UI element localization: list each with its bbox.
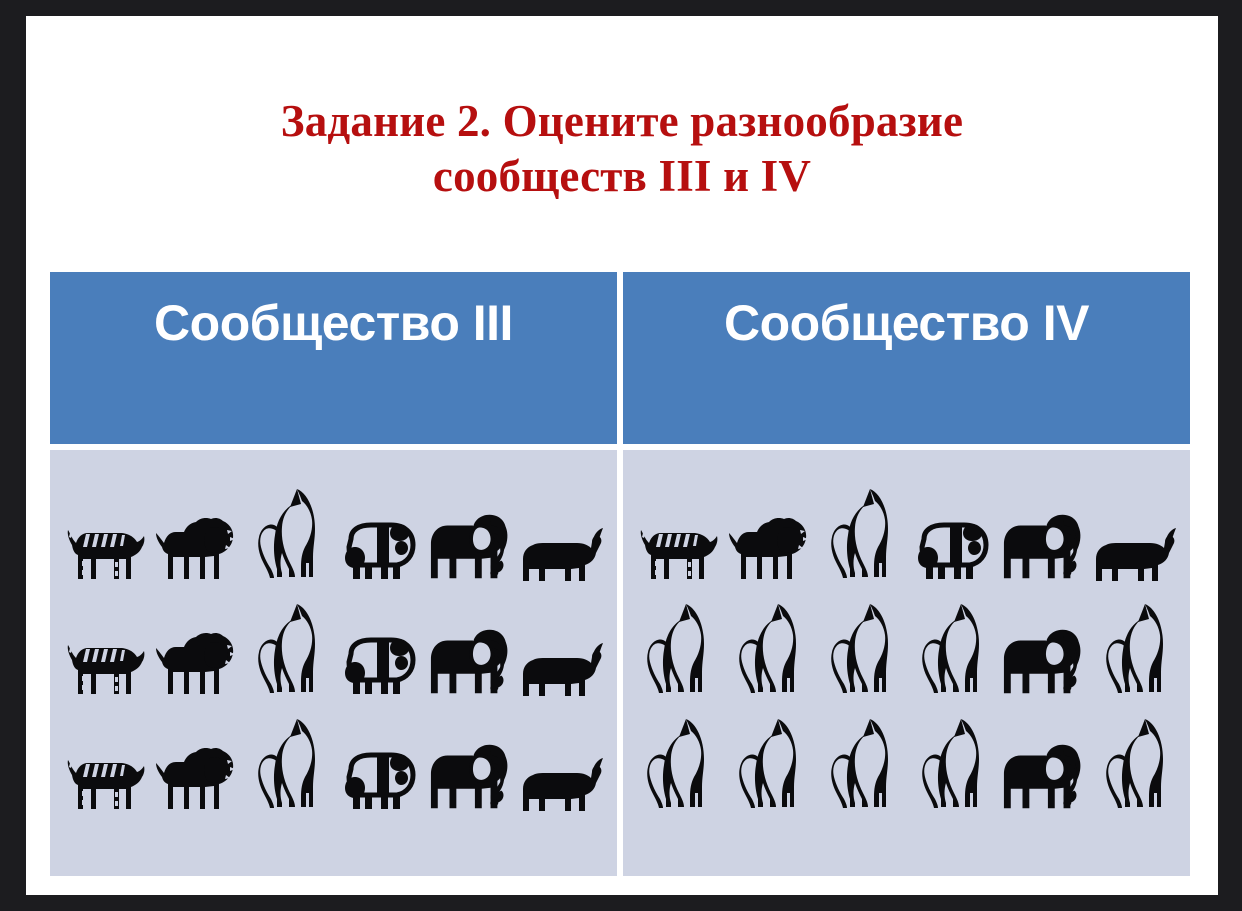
elephant-icon <box>1001 594 1087 698</box>
title-block: Задание 2. Оцените разнообразие сообщест… <box>26 94 1218 204</box>
slide-canvas: Задание 2. Оцените разнообразие сообщест… <box>26 16 1218 895</box>
elephant-icon <box>428 709 514 813</box>
header-cell-community-3: Сообщество III <box>50 272 617 444</box>
rhino-icon <box>1093 479 1179 583</box>
cat-icon <box>1093 594 1179 698</box>
cat-icon <box>818 709 904 813</box>
elephant-icon <box>428 594 514 698</box>
cat-icon <box>818 594 904 698</box>
header-cell-community-4: Сообщество IV <box>623 272 1190 444</box>
panda-icon <box>336 594 422 698</box>
cat-icon <box>726 709 812 813</box>
column-header-label-4: Сообщество IV <box>724 296 1089 351</box>
page-title: Задание 2. Оцените разнообразие сообщест… <box>26 94 1218 204</box>
cat-icon <box>634 709 720 813</box>
cat-icon <box>245 709 331 813</box>
community-comparison-table: Сообщество III Сообщество IV <box>50 272 1190 876</box>
column-header-label-3: Сообщество III <box>154 296 513 351</box>
animal-row <box>56 583 611 698</box>
elephant-icon <box>1001 479 1087 583</box>
lion-icon <box>726 479 812 583</box>
animal-row <box>629 698 1184 813</box>
elephant-icon <box>428 479 514 583</box>
cat-icon <box>818 479 904 583</box>
cat-icon <box>1093 709 1179 813</box>
tiger-icon <box>61 479 147 583</box>
elephant-icon <box>1001 709 1087 813</box>
rhino-icon <box>520 594 606 698</box>
lion-icon <box>153 479 239 583</box>
cat-icon <box>909 594 995 698</box>
cat-icon <box>634 594 720 698</box>
tiger-icon <box>634 479 720 583</box>
panda-icon <box>336 479 422 583</box>
animal-row <box>56 468 611 583</box>
rhino-icon <box>520 479 606 583</box>
lion-icon <box>153 709 239 813</box>
cat-icon <box>245 594 331 698</box>
table-header-row: Сообщество III Сообщество IV <box>50 272 1190 444</box>
cat-icon <box>909 709 995 813</box>
body-cell-community-3 <box>50 450 617 876</box>
cat-icon <box>726 594 812 698</box>
animal-row <box>629 583 1184 698</box>
tiger-icon <box>61 594 147 698</box>
panda-icon <box>336 709 422 813</box>
lion-icon <box>153 594 239 698</box>
slide-frame: Задание 2. Оцените разнообразие сообщест… <box>0 0 1242 911</box>
table-body-row <box>50 450 1190 876</box>
rhino-icon <box>520 709 606 813</box>
body-cell-community-4 <box>623 450 1190 876</box>
animal-row <box>56 698 611 813</box>
tiger-icon <box>61 709 147 813</box>
animal-row <box>629 468 1184 583</box>
cat-icon <box>245 479 331 583</box>
panda-icon <box>909 479 995 583</box>
